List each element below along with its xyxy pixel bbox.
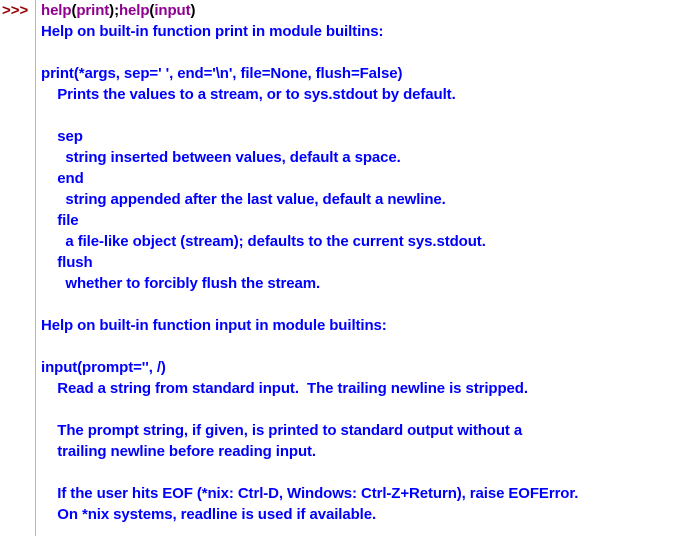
output-blank-line: [41, 399, 697, 420]
output-line: If the user hits EOF (*nix: Ctrl-D, Wind…: [41, 483, 697, 504]
output-line: flush: [41, 252, 697, 273]
code-token-builtin: help: [41, 2, 71, 19]
output-line: string appended after the last value, de…: [41, 189, 697, 210]
prompt-symbol: >>>: [2, 0, 28, 21]
code-token-builtin: input: [154, 2, 190, 19]
output-line: Help on built-in function print in modul…: [41, 21, 697, 42]
output-line: whether to forcibly flush the stream.: [41, 273, 697, 294]
code-token-builtin: print: [76, 2, 109, 19]
output-line: string inserted between values, default …: [41, 147, 697, 168]
output-blank-line: [41, 294, 697, 315]
output-line: sep: [41, 126, 697, 147]
output-blank-line: [41, 462, 697, 483]
output-blank-line: [41, 336, 697, 357]
gutter-separator-line: [35, 0, 36, 536]
shell-text-area[interactable]: help(print);help(input)Help on built-in …: [41, 0, 697, 536]
output-line: input(prompt='', /): [41, 357, 697, 378]
output-line: print(*args, sep=' ', end='\n', file=Non…: [41, 63, 697, 84]
output-line: Prints the values to a stream, or to sys…: [41, 84, 697, 105]
output-line: Help on built-in function input in modul…: [41, 315, 697, 336]
code-token-builtin: help: [119, 2, 149, 19]
output-line: trailing newline before reading input.: [41, 441, 697, 462]
output-line: On *nix systems, readline is used if ava…: [41, 504, 697, 525]
code-token-punct: ): [190, 2, 195, 19]
output-blank-line: [41, 105, 697, 126]
output-line: end: [41, 168, 697, 189]
output-line: The prompt string, if given, is printed …: [41, 420, 697, 441]
output-line: a file-like object (stream); defaults to…: [41, 231, 697, 252]
output-blank-line: [41, 42, 697, 63]
input-echo-line[interactable]: help(print);help(input): [41, 0, 697, 21]
idle-shell-window[interactable]: >>> help(print);help(input)Help on built…: [0, 0, 697, 536]
prompt-gutter: >>>: [0, 0, 35, 536]
output-line: file: [41, 210, 697, 231]
output-line: Read a string from standard input. The t…: [41, 378, 697, 399]
